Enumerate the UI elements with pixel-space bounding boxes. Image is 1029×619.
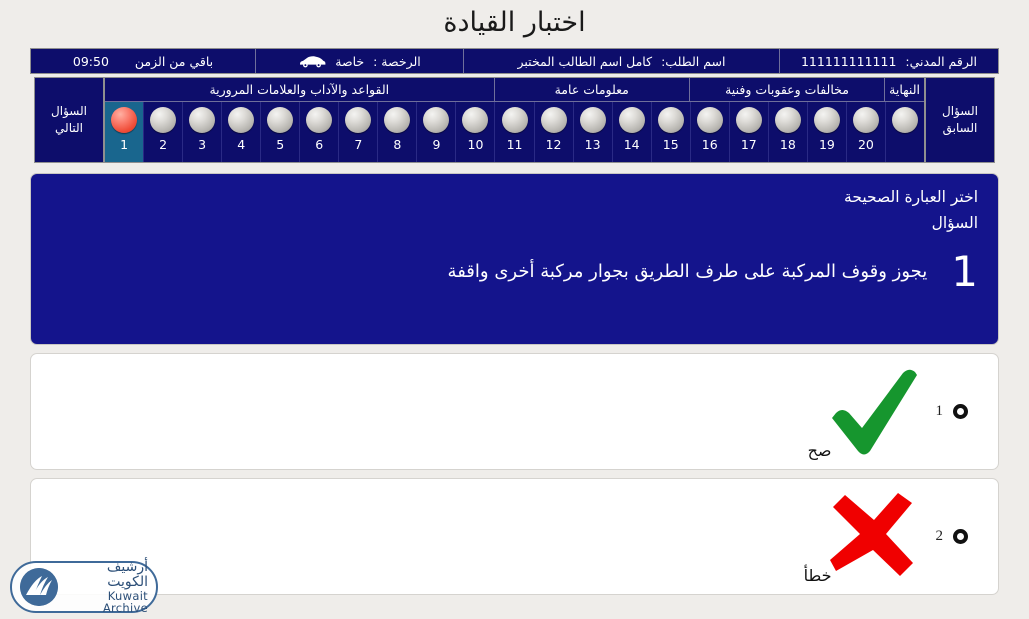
watermark-arabic: أرشيف الكويت — [66, 560, 148, 589]
question-button-end[interactable] — [886, 102, 924, 162]
question-word-label: السؤال — [51, 210, 978, 236]
answer-2-selector[interactable]: 2 — [936, 528, 987, 545]
answer-option-2[interactable]: 2 خطأ — [30, 478, 999, 595]
category-header-0: النهاية — [885, 78, 924, 101]
question-number-label: 20 — [858, 138, 874, 152]
question-instruction: اختر العبارة الصحيحة — [51, 184, 978, 210]
answer-1-radio[interactable] — [953, 404, 968, 419]
category-header-2: معلومات عامة — [495, 78, 690, 101]
civil-number-label: الرقم المدني: — [905, 54, 977, 69]
question-number-label: 4 — [237, 138, 245, 152]
category-row: النهايةمخالفات وعقوبات وفنيةمعلومات عامة… — [105, 78, 924, 102]
question-number-label: 13 — [585, 138, 601, 152]
question-number-label: 19 — [819, 138, 835, 152]
answer-option-1[interactable]: 1 صح — [30, 353, 999, 470]
question-button-3[interactable]: 3 — [183, 102, 222, 162]
answer-2-mark: خطأ — [816, 487, 936, 587]
question-grid: النهايةمخالفات وعقوبات وفنيةمعلومات عامة… — [104, 77, 925, 163]
answer-1-selector[interactable]: 1 — [936, 403, 987, 420]
answer-2-word: خطأ — [804, 566, 832, 585]
watermark-english: Kuwait Archive — [66, 590, 148, 614]
question-number-label: 14 — [624, 138, 640, 152]
question-number-label: 7 — [354, 138, 362, 152]
question-number-label: 6 — [315, 138, 323, 152]
question-status-ball — [228, 107, 254, 133]
question-number-label: 15 — [663, 138, 679, 152]
question-status-ball — [150, 107, 176, 133]
question-number-row: 2019181716151413121110987654321 — [105, 102, 924, 162]
info-bar: الرقم المدني: 111111111111 اسم الطلب: كا… — [30, 48, 999, 74]
question-text: يجوز وقوف المركبة على طرف الطريق بجوار م… — [51, 258, 927, 286]
question-number-label: 17 — [741, 138, 757, 152]
question-button-2[interactable]: 2 — [144, 102, 183, 162]
license-cell: الرخصة : خاصة — [256, 49, 464, 73]
timer-cell: باقي من الزمن 09:50 — [31, 49, 256, 73]
question-button-19[interactable]: 19 — [808, 102, 847, 162]
question-navigator: السؤال السابق النهايةمخالفات وعقوبات وفن… — [30, 77, 999, 163]
previous-question-button[interactable]: السؤال السابق — [925, 77, 995, 163]
question-status-ball — [267, 107, 293, 133]
question-button-4[interactable]: 4 — [222, 102, 261, 162]
exam-shell: الرقم المدني: 111111111111 اسم الطلب: كا… — [30, 48, 999, 595]
kuwait-archive-emblem-icon — [20, 568, 58, 606]
question-status-ball — [306, 107, 332, 133]
student-name-cell: اسم الطلب: كامل اسم الطالب المختبر — [464, 49, 780, 73]
question-body: 1 يجوز وقوف المركبة على طرف الطريق بجوار… — [51, 250, 978, 294]
question-button-16[interactable]: 16 — [691, 102, 730, 162]
previous-question-label-line2: السابق — [943, 120, 978, 137]
car-icon — [298, 55, 326, 68]
question-button-7[interactable]: 7 — [339, 102, 378, 162]
question-status-ball — [697, 107, 723, 133]
answer-2-number: 2 — [936, 528, 944, 545]
question-number-label: 5 — [276, 138, 284, 152]
question-number-label: 2 — [159, 138, 167, 152]
question-number-label: 16 — [702, 138, 718, 152]
answer-2-radio[interactable] — [953, 529, 968, 544]
question-status-ball — [658, 107, 684, 133]
watermark-texts: أرشيف الكويت Kuwait Archive — [66, 560, 148, 614]
question-button-15[interactable]: 15 — [652, 102, 691, 162]
cross-icon — [816, 487, 936, 587]
category-header-1: مخالفات وعقوبات وفنية — [690, 78, 885, 101]
page-title: اختبار القيادة — [0, 0, 1029, 48]
civil-number-cell: الرقم المدني: 111111111111 — [780, 49, 998, 73]
answer-1-word: صح — [808, 441, 832, 460]
question-number-label: 9 — [432, 138, 440, 152]
question-number-label: 1 — [120, 138, 128, 152]
question-status-ball — [619, 107, 645, 133]
question-number-label: 12 — [546, 138, 562, 152]
question-button-10[interactable]: 10 — [456, 102, 495, 162]
civil-number-value: 111111111111 — [801, 54, 896, 69]
watermark-logo: أرشيف الكويت Kuwait Archive — [10, 561, 158, 613]
question-index: 1 — [951, 250, 978, 294]
question-status-ball — [892, 107, 918, 133]
category-header-3: القواعد والآداب والعلامات المرورية — [105, 78, 495, 101]
check-icon — [816, 362, 936, 462]
question-button-13[interactable]: 13 — [574, 102, 613, 162]
timer-label: باقي من الزمن — [135, 54, 213, 69]
question-status-ball — [736, 107, 762, 133]
question-status-ball — [423, 107, 449, 133]
question-button-11[interactable]: 11 — [495, 102, 534, 162]
question-button-18[interactable]: 18 — [769, 102, 808, 162]
question-number-label: 3 — [198, 138, 206, 152]
question-status-ball — [502, 107, 528, 133]
next-question-label-line1: السؤال — [51, 103, 87, 120]
question-button-6[interactable]: 6 — [300, 102, 339, 162]
next-question-button[interactable]: السؤال التالي — [34, 77, 104, 163]
question-button-1[interactable]: 1 — [105, 102, 144, 162]
question-status-ball — [384, 107, 410, 133]
question-button-14[interactable]: 14 — [613, 102, 652, 162]
question-button-8[interactable]: 8 — [378, 102, 417, 162]
question-status-ball — [814, 107, 840, 133]
question-number-label: 18 — [780, 138, 796, 152]
answer-1-mark: صح — [816, 362, 936, 462]
student-name-label: اسم الطلب: — [661, 54, 725, 69]
question-status-ball — [580, 107, 606, 133]
question-button-17[interactable]: 17 — [730, 102, 769, 162]
question-button-20[interactable]: 20 — [847, 102, 886, 162]
question-status-ball — [462, 107, 488, 133]
question-button-9[interactable]: 9 — [417, 102, 456, 162]
next-question-label-line2: التالي — [55, 120, 83, 137]
student-name-value: كامل اسم الطالب المختبر — [518, 54, 653, 69]
question-status-ball — [345, 107, 371, 133]
question-button-12[interactable]: 12 — [535, 102, 574, 162]
answer-1-number: 1 — [936, 403, 944, 420]
question-number-label: 8 — [393, 138, 401, 152]
timer-value: 09:50 — [73, 54, 109, 69]
question-number-label: 10 — [468, 138, 484, 152]
question-status-ball — [775, 107, 801, 133]
question-status-ball — [541, 107, 567, 133]
question-status-ball — [853, 107, 879, 133]
question-status-ball — [189, 107, 215, 133]
question-button-5[interactable]: 5 — [261, 102, 300, 162]
license-label: الرخصة : — [373, 54, 421, 69]
question-number-label: 11 — [507, 138, 523, 152]
question-status-ball — [111, 107, 137, 133]
license-value: خاصة — [335, 54, 364, 69]
previous-question-label-line1: السؤال — [942, 103, 978, 120]
question-panel: اختر العبارة الصحيحة السؤال 1 يجوز وقوف … — [30, 173, 999, 345]
